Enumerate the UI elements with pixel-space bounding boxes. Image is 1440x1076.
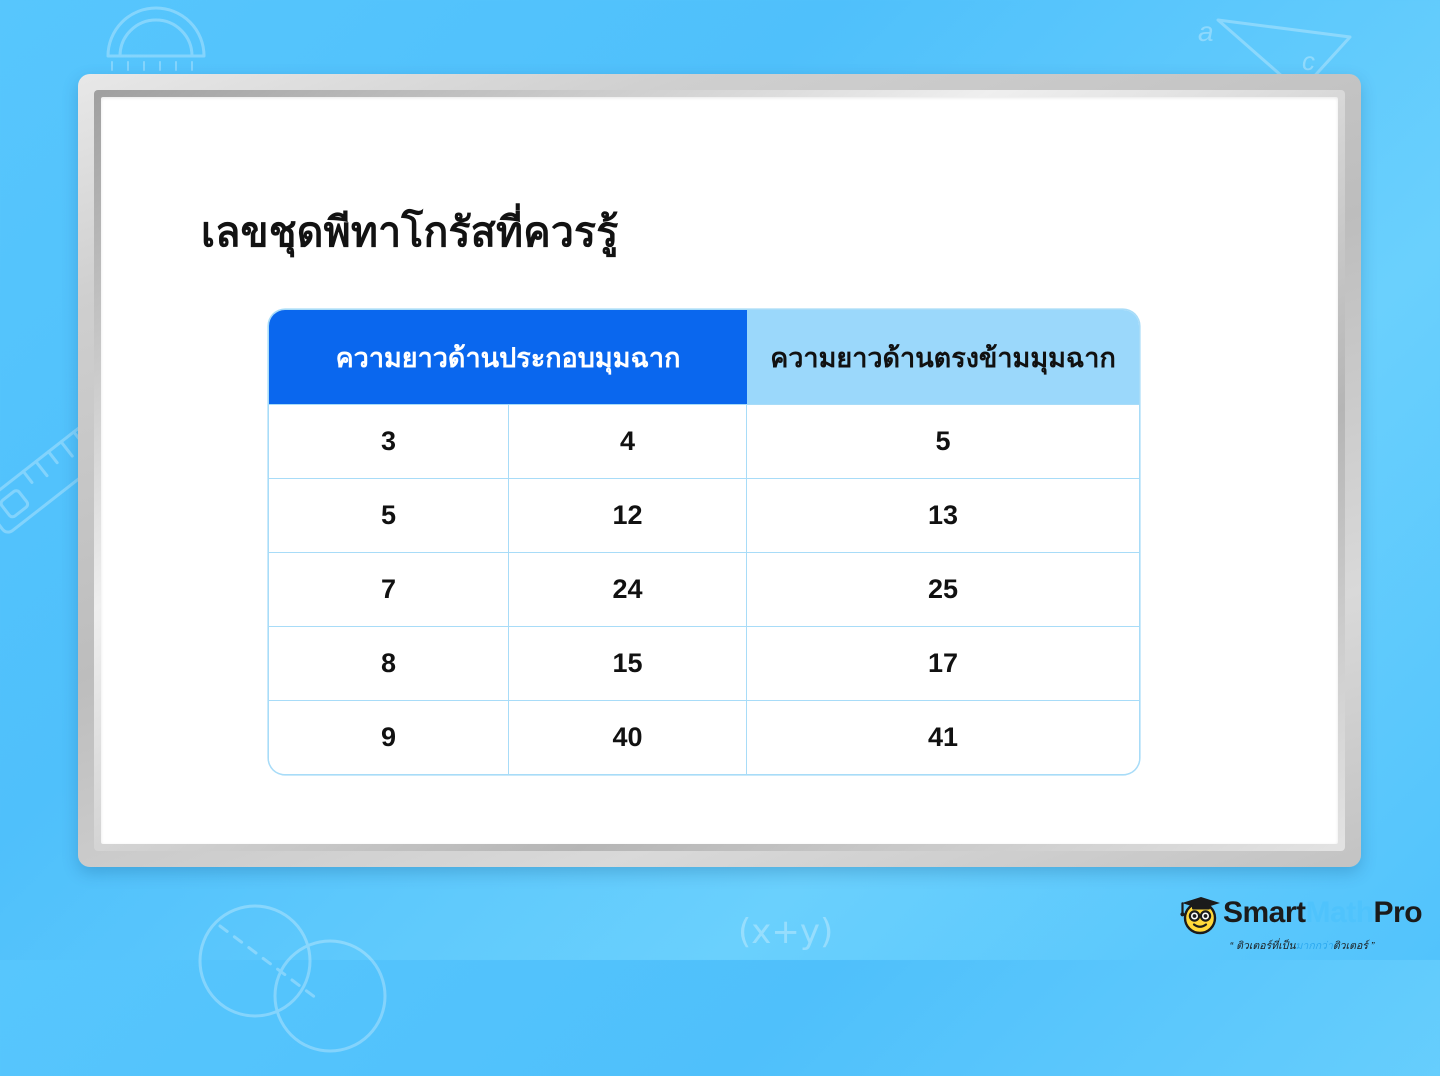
table-row: 9 40 41 (269, 700, 1139, 774)
cell-hypotenuse: 41 (747, 700, 1139, 774)
cell-leg-a: 9 (269, 700, 509, 774)
tagline-post: ติวเตอร์ ” (1333, 940, 1374, 952)
column-header-hypotenuse: ความยาวด้านตรงข้ามมุมฉาก (747, 310, 1139, 404)
cell-leg-a: 7 (269, 552, 509, 626)
cell-leg-b: 15 (509, 626, 747, 700)
pythagorean-triples-table-wrapper: ความยาวด้านประกอบมุมฉาก ความยาวด้านตรงข้… (269, 310, 1139, 774)
logo-word-smart: Smart (1223, 896, 1306, 929)
doodle-letter-a: a (1198, 16, 1214, 48)
cell-leg-b: 24 (509, 552, 747, 626)
cell-leg-a: 3 (269, 404, 509, 478)
tagline-highlight: มากกว่า (1296, 940, 1333, 952)
page-title: เลขชุดพีทาโกรัสที่ควรรู้ (201, 200, 619, 265)
cell-hypotenuse: 25 (747, 552, 1139, 626)
whiteboard: เลขชุดพีทาโกรัสที่ควรรู้ ความยาวด้านประก… (78, 74, 1361, 867)
logo-tagline: “ ติวเตอร์ที่เป็นมากกว่าติวเตอร์ ” (1176, 937, 1428, 954)
logo-word-math: Math (1306, 896, 1374, 929)
table-row: 3 4 5 (269, 404, 1139, 478)
table-row: 5 12 13 (269, 478, 1139, 552)
logo-wordmark: SmartMathPro (1223, 898, 1422, 928)
cell-leg-a: 8 (269, 626, 509, 700)
logo-word-pro: Pro (1374, 896, 1423, 929)
cell-hypotenuse: 5 (747, 404, 1139, 478)
pythagorean-triples-table: ความยาวด้านประกอบมุมฉาก ความยาวด้านตรงข้… (269, 310, 1139, 774)
whiteboard-surface: เลขชุดพีทาโกรัสที่ควรรู้ ความยาวด้านประก… (101, 97, 1338, 844)
graduate-smiley-icon (1176, 891, 1222, 935)
whiteboard-bevel: เลขชุดพีทาโกรัสที่ควรรู้ ความยาวด้านประก… (94, 90, 1345, 851)
doodle-letter-c: c (1302, 46, 1315, 77)
doodle-expression: (x+y) (738, 912, 833, 952)
whiteboard-frame: เลขชุดพีทาโกรัสที่ควรรู้ ความยาวด้านประก… (78, 74, 1361, 867)
cell-leg-b: 40 (509, 700, 747, 774)
logo-wordmark-row: SmartMathPro (1176, 891, 1428, 935)
circles-construction-icon (170, 876, 460, 1076)
cell-leg-b: 4 (509, 404, 747, 478)
cell-hypotenuse: 13 (747, 478, 1139, 552)
tagline-pre: “ ติวเตอร์ที่เป็น (1230, 940, 1296, 952)
table-header-row: ความยาวด้านประกอบมุมฉาก ความยาวด้านตรงข้… (269, 310, 1139, 404)
cell-hypotenuse: 17 (747, 626, 1139, 700)
brand-logo: SmartMathPro “ ติวเตอร์ที่เป็นมากกว่าติว… (1176, 891, 1428, 953)
column-header-legs: ความยาวด้านประกอบมุมฉาก (269, 310, 747, 404)
table-row: 8 15 17 (269, 626, 1139, 700)
cell-leg-b: 12 (509, 478, 747, 552)
table-row: 7 24 25 (269, 552, 1139, 626)
cell-leg-a: 5 (269, 478, 509, 552)
